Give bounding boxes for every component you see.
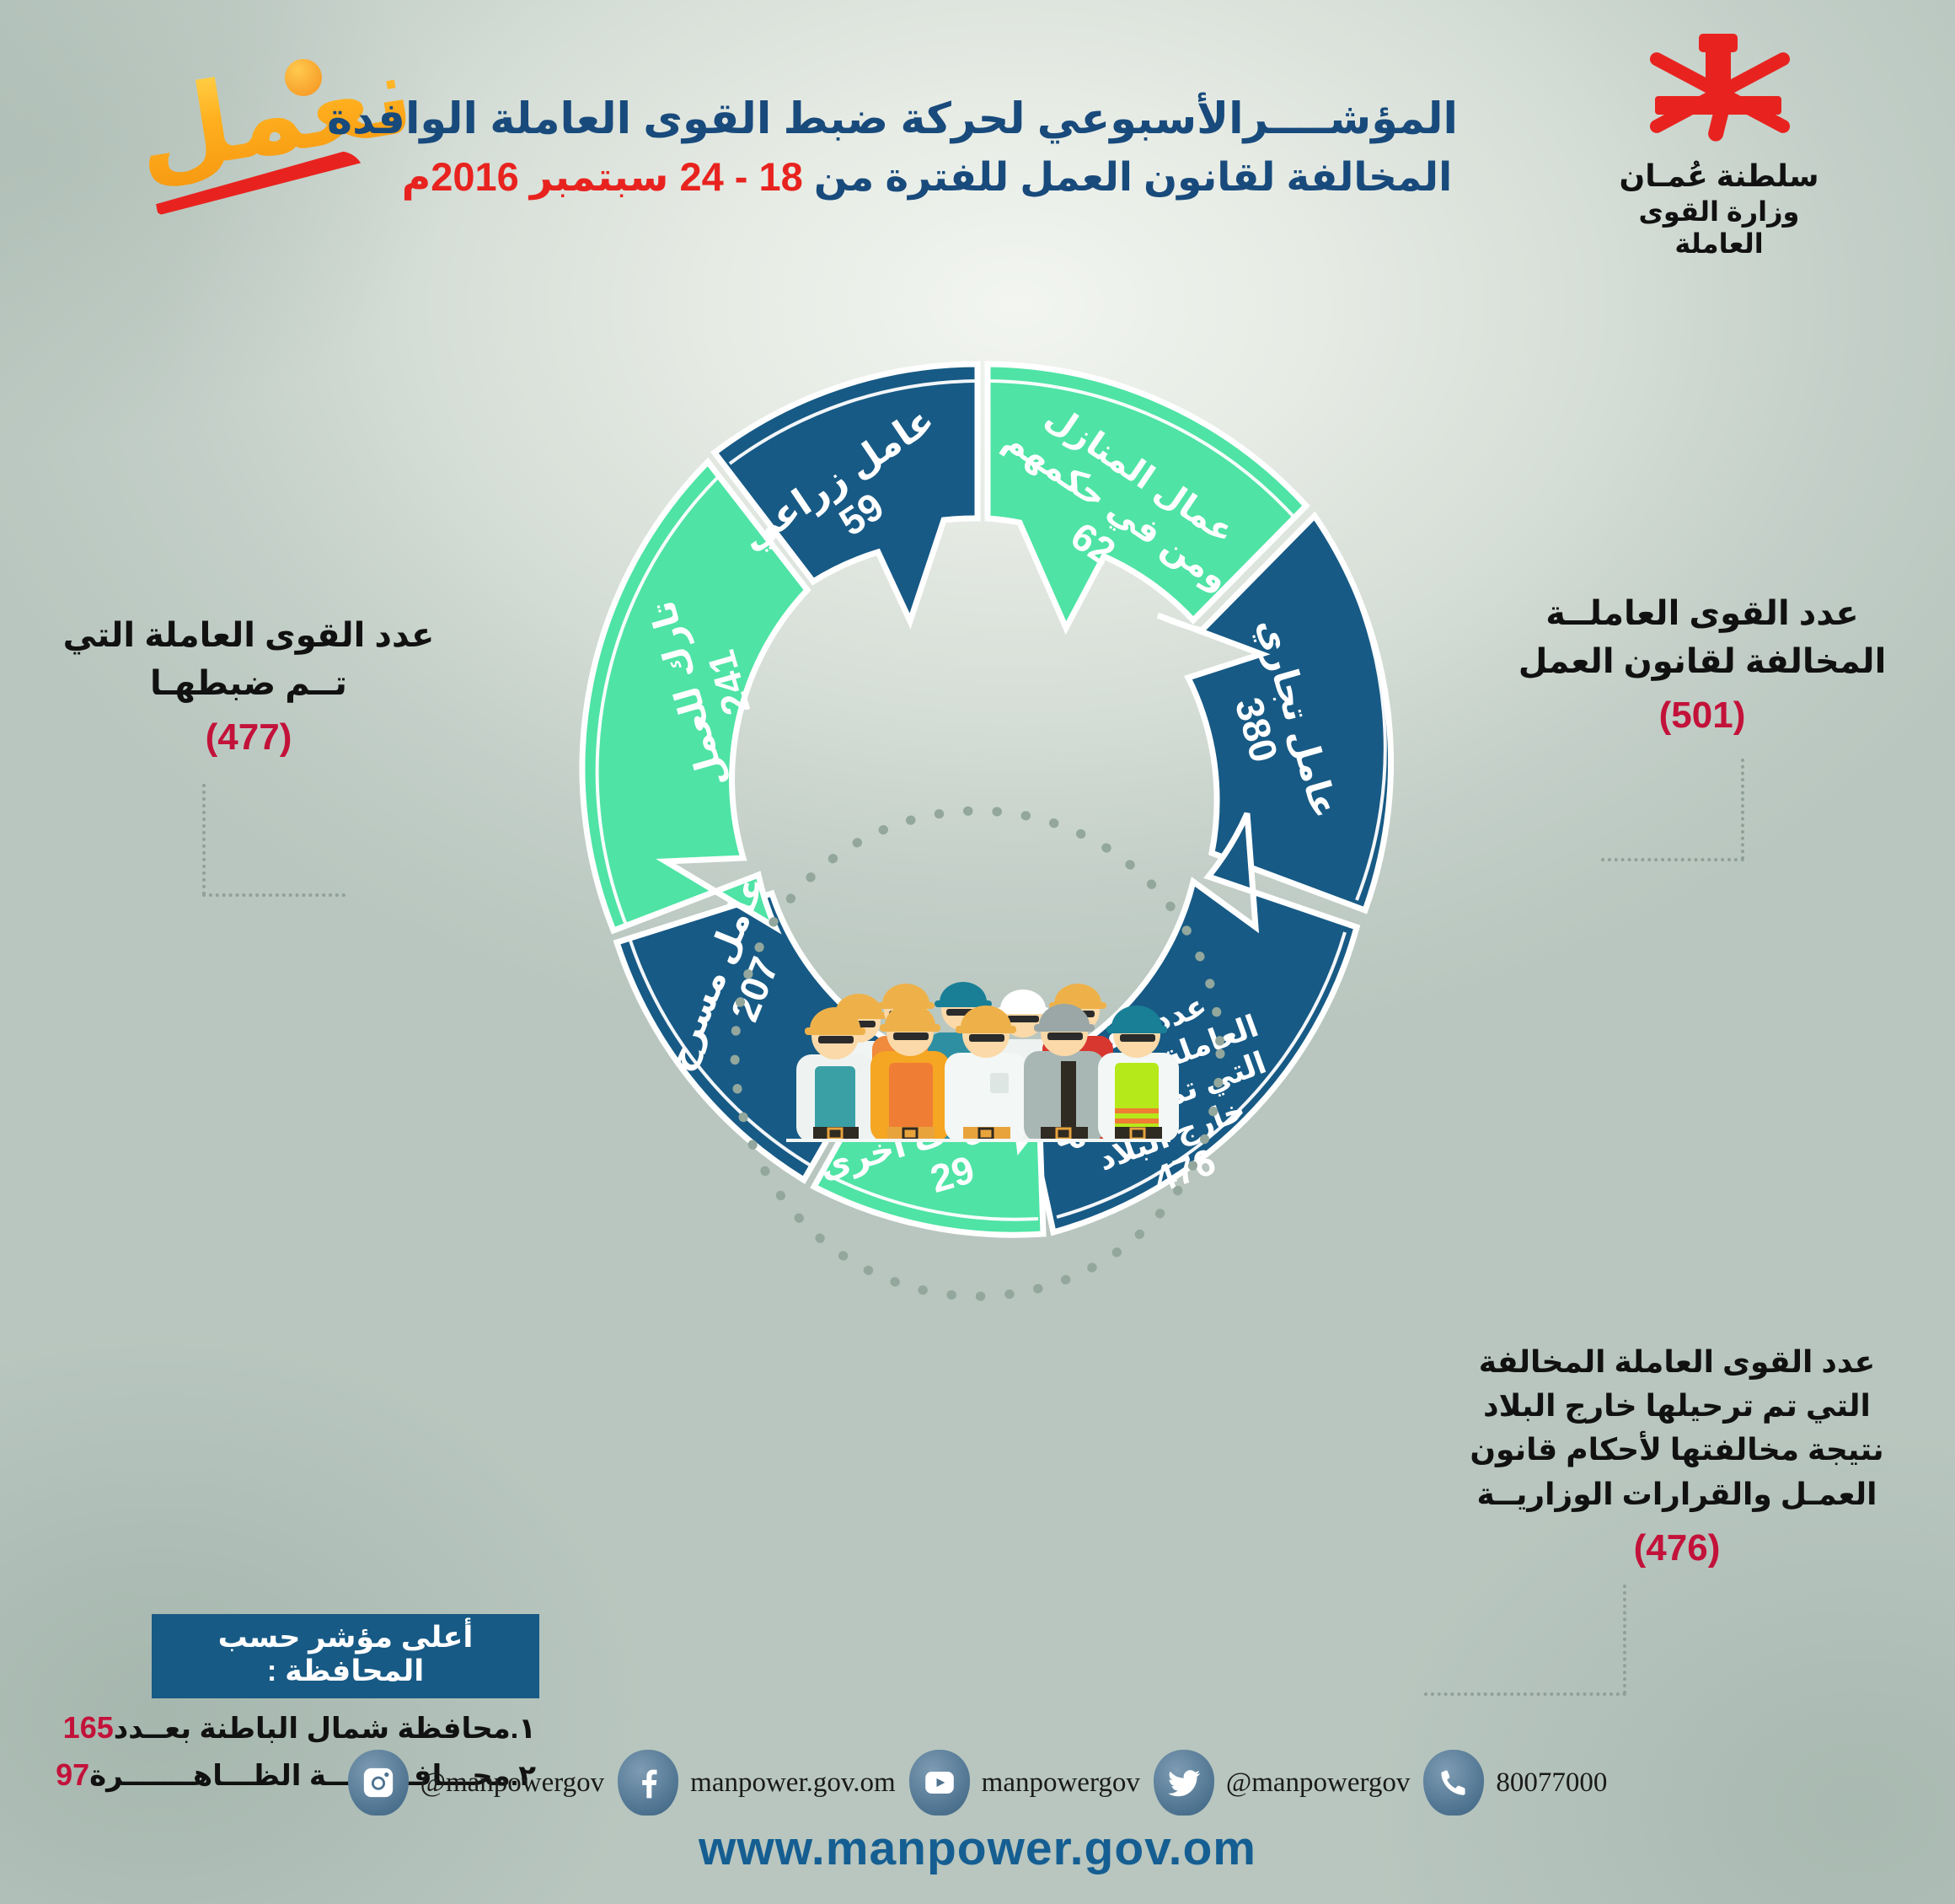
leader-line-left xyxy=(202,893,345,897)
website-url[interactable]: www.manpower.gov.om xyxy=(0,1821,1955,1876)
instagram-handle: @manpowergov xyxy=(420,1767,605,1799)
callout-right-text: عدد القوى العاملــة المخالفة لقانون العم… xyxy=(1518,595,1887,680)
emblem-line-2: وزارة القوى العاملة xyxy=(1610,196,1829,260)
social-item-phone[interactable]: 80077000 xyxy=(1423,1750,1607,1816)
youtube-handle: manpowergov xyxy=(982,1767,1140,1799)
social-item-youtube[interactable]: manpowergov xyxy=(909,1750,1140,1816)
callout-captured-workforce: عدد القوى العاملة التي تــم ضبطهـا (477) xyxy=(51,612,447,764)
callout-right-value: (501) xyxy=(1500,689,1904,742)
callout-violating-workforce: عدد القوى العاملــة المخالفة لقانون العم… xyxy=(1500,590,1904,742)
youtube-icon[interactable] xyxy=(909,1750,970,1816)
leader-line-left-vertical xyxy=(202,784,206,895)
center-illustration xyxy=(720,796,1235,1311)
social-item-instagram[interactable]: @manpowergov xyxy=(348,1750,605,1816)
leader-line-bottomright xyxy=(1424,1692,1626,1696)
callout-left-text: عدد القوى العاملة التي تــم ضبطهـا xyxy=(63,617,435,702)
callout-left-value: (477) xyxy=(51,711,447,764)
twitter-icon[interactable] xyxy=(1154,1750,1214,1816)
leader-line-right-vertical xyxy=(1741,759,1744,860)
callout-bottomright-value: (476) xyxy=(1445,1521,1909,1575)
callout-bottomright-text: عدد القوى العاملة المخالفة التي تم ترحيل… xyxy=(1470,1344,1883,1511)
page-title: المؤشــــرالأسبوعي لحركة ضبط القوى العام… xyxy=(396,91,1458,202)
social-item-facebook[interactable]: manpower.gov.om xyxy=(618,1750,896,1816)
title-line-1: المؤشــــرالأسبوعي لحركة ضبط القوى العام… xyxy=(396,91,1458,146)
infographic-canvas: نعمل المؤشــــرالأسبوعي لحركة ضبط القوى … xyxy=(0,0,1955,1904)
facebook-handle: manpower.gov.om xyxy=(690,1767,896,1799)
leader-line-right xyxy=(1601,858,1744,861)
title-line-2-period: 18 - 24 سبتمبر 2016م xyxy=(402,154,803,199)
social-links-bar: @manpowergov manpower.gov.om manpowergov xyxy=(0,1736,1955,1829)
title-line-2-main: المخالفة لقانون العمل للفترة من xyxy=(814,154,1452,199)
callout-deported-workforce: عدد القوى العاملة المخالفة التي تم ترحيل… xyxy=(1445,1340,1909,1575)
khanjar-icon xyxy=(1626,34,1812,160)
worker-front-4 xyxy=(1024,1004,1105,1142)
twitter-handle: @manpowergov xyxy=(1226,1767,1411,1799)
emblem-line-1: سلطنة عُمـان xyxy=(1610,158,1829,194)
facebook-icon[interactable] xyxy=(618,1750,678,1816)
leader-line-bottomright-vertical xyxy=(1623,1585,1626,1694)
oman-ministry-emblem: سلطنة عُمـان وزارة القوى العاملة xyxy=(1610,34,1829,244)
worker-front-5 xyxy=(1098,1006,1179,1142)
social-item-twitter[interactable]: @manpowergov xyxy=(1154,1750,1411,1816)
instagram-icon[interactable] xyxy=(348,1750,409,1816)
worker-front-2 xyxy=(870,1004,950,1142)
phone-number: 80077000 xyxy=(1496,1767,1607,1799)
governorate-panel-header: أعلى مؤشر حسب المحافظة : xyxy=(152,1614,539,1698)
phone-icon[interactable] xyxy=(1423,1750,1484,1816)
workers-group-illustration xyxy=(771,948,1184,1142)
